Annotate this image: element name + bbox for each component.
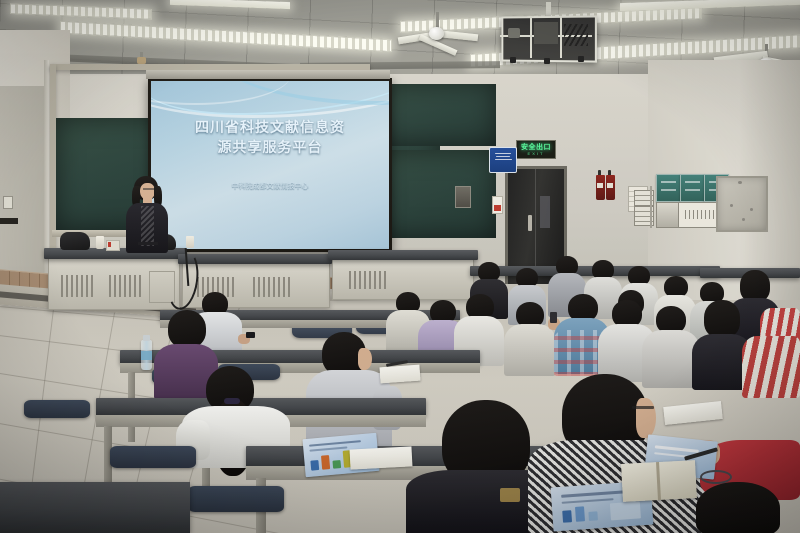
projector-body xyxy=(534,22,558,44)
cup xyxy=(96,236,104,249)
wall-access-panel xyxy=(716,176,768,232)
desk-foreground xyxy=(0,482,190,533)
extinguisher-label xyxy=(607,183,613,188)
slide-subtitle: 中科院成都文献情报中心 xyxy=(151,181,389,191)
door-handle[interactable] xyxy=(528,215,532,231)
exit-sign-english: EXIT xyxy=(528,152,545,156)
phone[interactable] xyxy=(550,312,557,323)
audience-head xyxy=(704,300,740,338)
cage-foot xyxy=(578,56,584,62)
brochure-text-line xyxy=(562,498,614,504)
lecture-console xyxy=(48,256,180,310)
fan-rod xyxy=(436,12,439,28)
brochure-chart-bar xyxy=(310,460,319,471)
audience-face xyxy=(358,348,372,370)
cage-bar xyxy=(560,16,562,58)
audience-glasses xyxy=(632,406,654,409)
door-window xyxy=(540,196,550,228)
brochure-text-line xyxy=(561,490,627,498)
lecture-hall-photo: 四川省科技文献信息资 源共享服务平台 中科院成都文献情报中心 安全出口 EXIT xyxy=(0,0,800,533)
notebook xyxy=(621,460,697,502)
breaker-panel-interior xyxy=(678,202,718,228)
projector-mount-rod xyxy=(546,2,551,16)
paper xyxy=(379,365,420,384)
seat[interactable] xyxy=(188,486,284,512)
wall-placard xyxy=(489,147,517,173)
panel-screw xyxy=(730,204,733,207)
brochure-text-line xyxy=(654,452,688,458)
placard-text-line xyxy=(495,153,511,154)
console-vent xyxy=(349,271,389,289)
console-vent xyxy=(109,275,143,297)
cage-foot xyxy=(544,58,550,64)
glasses xyxy=(700,470,732,484)
audience-head xyxy=(168,310,206,348)
audience-head xyxy=(696,482,780,533)
wall-speaker xyxy=(455,186,471,208)
audience-stripe-top xyxy=(742,336,800,398)
placard-text-line xyxy=(496,156,510,157)
brochure-text-line xyxy=(309,440,361,447)
box-label xyxy=(685,181,700,183)
brochure-text-line xyxy=(655,445,699,453)
box-label xyxy=(661,189,676,191)
cage-bar xyxy=(530,16,532,58)
box-label xyxy=(661,181,676,183)
bottle-cap xyxy=(143,335,150,341)
projector-lens xyxy=(508,28,520,38)
paper xyxy=(350,446,413,469)
cup xyxy=(186,236,194,248)
audience-torso xyxy=(504,324,556,376)
water-bottle xyxy=(141,340,152,370)
seat[interactable] xyxy=(24,400,90,418)
ceiling-projector xyxy=(500,10,592,64)
brochure-chart-bar xyxy=(321,455,330,470)
exit-sign-chinese: 安全出口 xyxy=(521,144,551,151)
ceiling-pendant xyxy=(136,52,146,64)
presenter xyxy=(118,176,174,254)
pendant-body xyxy=(137,57,146,64)
exit-sign: 安全出口 EXIT xyxy=(516,140,556,159)
projection-screen: 四川省科技文献信息资 源共享服务平台 中科院成都文献情报中心 xyxy=(148,78,392,252)
console-vent xyxy=(253,277,293,297)
fan-hub xyxy=(429,27,444,40)
panel-screw xyxy=(742,218,745,221)
presenter-glasses xyxy=(143,188,154,190)
presenter-belt xyxy=(138,242,158,245)
panel-screw xyxy=(738,181,742,184)
ceiling-fan-left xyxy=(398,12,478,54)
bag xyxy=(60,232,90,250)
bottle-label xyxy=(141,351,152,360)
slide-title-line1: 四川省科技文献信息资 xyxy=(151,117,389,137)
console-vent xyxy=(61,275,95,297)
screen-roller-housing xyxy=(146,70,390,79)
cage-foot xyxy=(510,57,516,63)
brochure-chart-bar xyxy=(575,506,585,522)
breaker-switches xyxy=(682,210,714,219)
slide-content: 四川省科技文献信息资 源共享服务平台 中科院成都文献情报中心 xyxy=(151,81,389,249)
front-desk-top-right xyxy=(328,250,478,260)
hair-tie xyxy=(224,398,240,404)
panel-screw xyxy=(750,208,753,211)
front-desk-top xyxy=(178,254,332,264)
left-door-switch xyxy=(3,196,13,209)
wall-conduit xyxy=(650,186,652,228)
phone[interactable] xyxy=(246,332,255,338)
chalkboard-right-lower xyxy=(378,150,496,238)
box-label xyxy=(685,189,700,191)
notebook-spine xyxy=(656,462,661,500)
electrical-box xyxy=(656,174,681,202)
marker-red xyxy=(108,242,111,247)
wall-poster xyxy=(492,196,503,214)
fire-extinguisher-pair xyxy=(596,170,616,202)
audience-face xyxy=(636,398,656,438)
poster-accent xyxy=(494,205,501,211)
breaker-panel xyxy=(656,202,680,228)
brochure-image xyxy=(610,501,641,520)
presenter-top xyxy=(141,206,154,246)
shirt-logo xyxy=(500,488,520,502)
brochure-chart-bar xyxy=(332,460,341,469)
seat[interactable] xyxy=(110,446,196,468)
projector-cables xyxy=(564,24,588,46)
extinguisher-label xyxy=(597,183,603,188)
electrical-box xyxy=(680,174,705,202)
slide-title-line2: 源共享服务平台 xyxy=(151,137,389,157)
chalkboard-right-upper xyxy=(378,84,496,146)
placard-text-line xyxy=(495,159,512,160)
left-door-sign xyxy=(0,218,18,224)
brochure-chart-bar xyxy=(562,510,572,523)
brochure-chart-bar xyxy=(588,511,598,521)
